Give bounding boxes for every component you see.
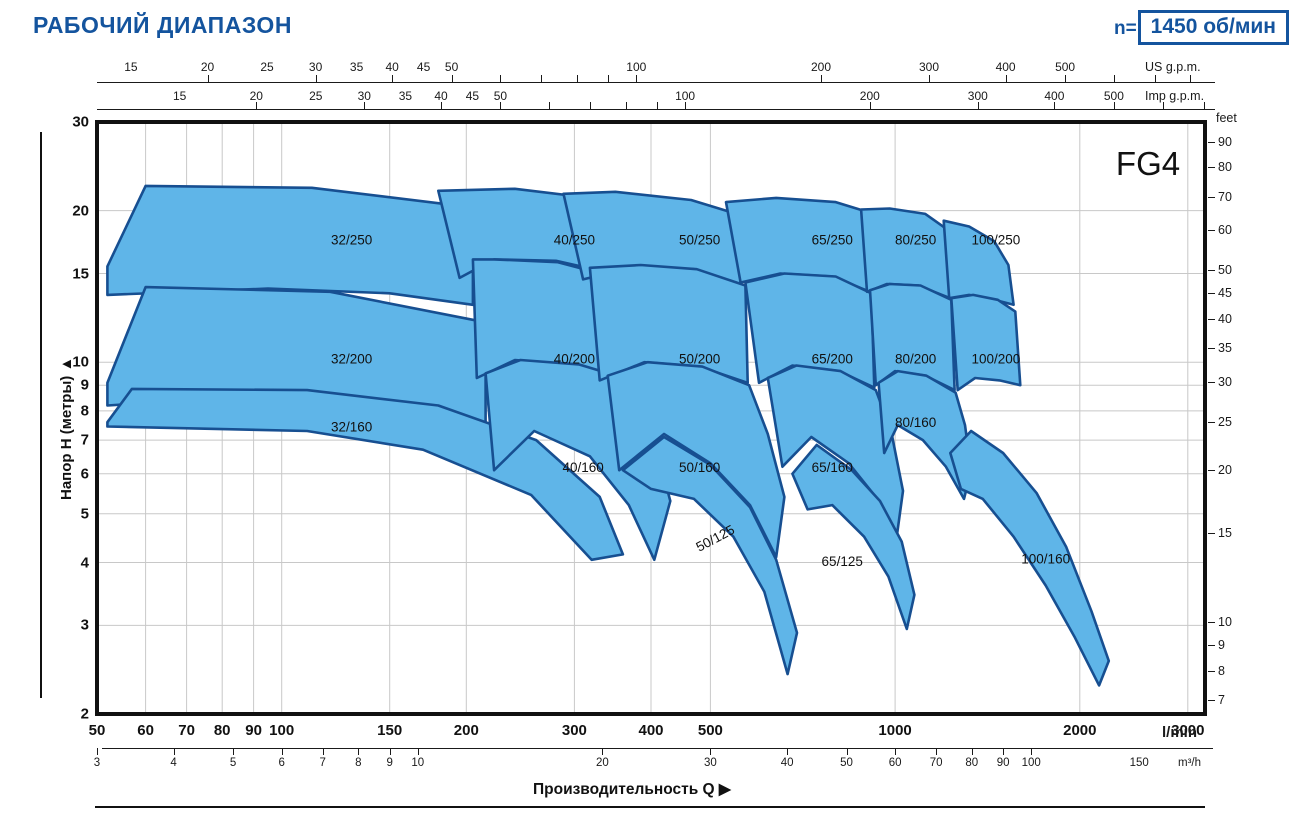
axis-tick-feet	[1208, 230, 1215, 231]
axis-label-feet: 8	[1218, 664, 1225, 678]
axis-label-feet: 80	[1218, 160, 1232, 174]
region-label-50-250: 50/250	[679, 233, 720, 248]
axis-label-head-m: 30	[39, 114, 89, 131]
axis-tick-feet	[1208, 348, 1215, 349]
axis-tick-feet	[1208, 142, 1215, 143]
axis-label-feet: 40	[1218, 312, 1232, 326]
axis-label-feet: 10	[1218, 615, 1232, 629]
axis-tick-feet	[1208, 293, 1215, 294]
region-label-50-125: 50/125	[694, 522, 738, 555]
axis-tick-feet	[1208, 270, 1215, 271]
axis-label-head-m: 2	[39, 706, 89, 723]
region-label-100-250: 100/250	[971, 233, 1020, 248]
region-label-80-160: 80/160	[895, 415, 936, 430]
region-label-80-250: 80/250	[895, 233, 936, 248]
region-label-80-200: 80/200	[895, 352, 936, 367]
axis-tick-feet	[1208, 671, 1215, 672]
axis-label-head-m: 15	[39, 265, 89, 282]
axis-tick-feet	[1208, 622, 1215, 623]
region-label-100-200: 100/200	[971, 352, 1020, 367]
axis-label-feet: 50	[1218, 263, 1232, 277]
chart-model-title: FG4	[1116, 145, 1180, 182]
axis-label-head-m: 4	[39, 554, 89, 571]
region-label-65-125: 65/125	[822, 554, 863, 569]
region-label-32-250: 32/250	[331, 233, 372, 248]
axis-tick-feet	[1208, 700, 1215, 701]
region-label-50-160: 50/160	[679, 460, 720, 475]
axis-label-feet: 90	[1218, 135, 1232, 149]
axis-title-x: Производительность Q ▶	[533, 780, 731, 799]
axis-tick-feet	[1208, 319, 1215, 320]
axis-label-feet: 20	[1218, 463, 1232, 477]
left-rule	[40, 132, 42, 698]
axis-label-feet: 60	[1218, 223, 1232, 237]
axis-tick-feet	[1208, 197, 1215, 198]
chart-regions	[107, 186, 1108, 686]
pump-region-100-200[interactable]	[951, 295, 1020, 390]
axis-title-y: Напор H (метры) ▲	[58, 357, 75, 500]
region-label-32-200: 32/200	[331, 352, 372, 367]
region-label-40-200: 40/200	[554, 352, 595, 367]
axis-tick-feet	[1208, 422, 1215, 423]
axis-unit-feet: feet	[1216, 111, 1237, 125]
region-label-40-160: 40/160	[562, 460, 603, 475]
region-label-65-200: 65/200	[812, 352, 853, 367]
axis-label-head-m: 5	[39, 505, 89, 522]
region-label-100-160: 100/160	[1021, 551, 1070, 566]
axis-label-feet: 25	[1218, 415, 1232, 429]
pump-performance-chart: 32/25032/20032/16040/25040/20040/16050/2…	[0, 0, 1301, 834]
axis-tick-feet	[1208, 167, 1215, 168]
region-label-40-250: 40/250	[554, 233, 595, 248]
axis-label-feet: 9	[1218, 638, 1225, 652]
axis-tick-feet	[1208, 382, 1215, 383]
region-label-65-250: 65/250	[812, 233, 853, 248]
axis-label-feet: 35	[1218, 341, 1232, 355]
axis-tick-feet	[1208, 470, 1215, 471]
region-label-65-160: 65/160	[812, 460, 853, 475]
axis-label-feet: 70	[1218, 190, 1232, 204]
axis-tick-feet	[1208, 645, 1215, 646]
axis-label-feet: 45	[1218, 286, 1232, 300]
axis-label-feet: 30	[1218, 375, 1232, 389]
region-label-32-160: 32/160	[331, 420, 372, 435]
axis-label-feet: 7	[1218, 693, 1225, 707]
bottom-divider	[95, 806, 1205, 808]
axis-tick-feet	[1208, 533, 1215, 534]
region-label-50-200: 50/200	[679, 352, 720, 367]
axis-label-feet: 15	[1218, 526, 1232, 540]
axis-label-head-m: 20	[39, 202, 89, 219]
axis-label-head-m: 3	[39, 617, 89, 634]
